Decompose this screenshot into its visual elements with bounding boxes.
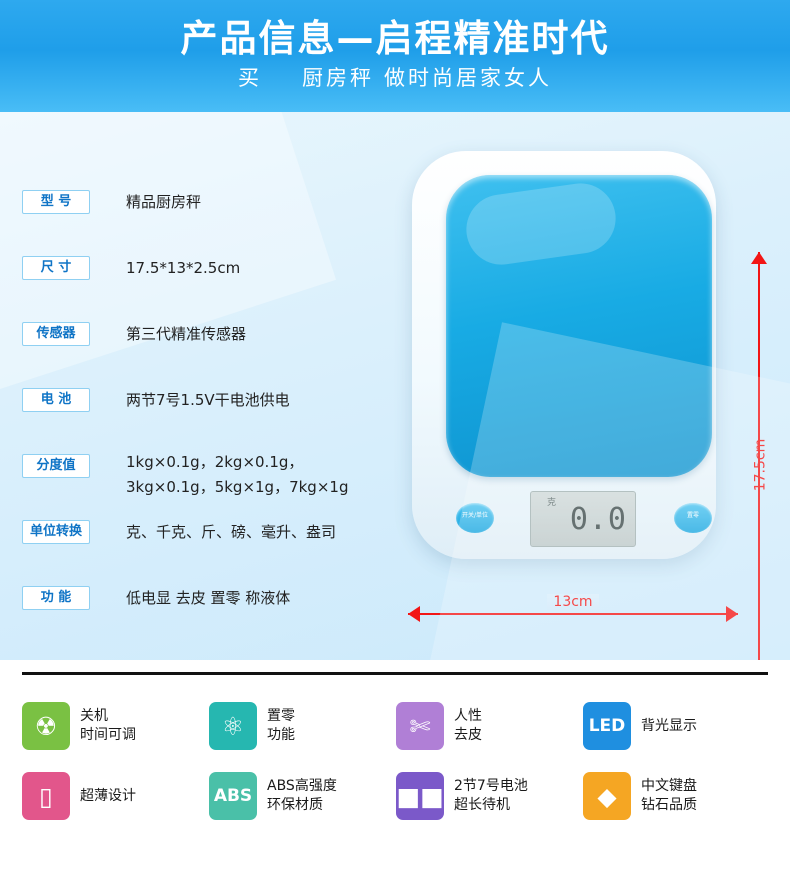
feature-item: ✄ 人性 去皮 xyxy=(396,702,583,750)
spec-value: 两节7号1.5V干电池供电 xyxy=(126,389,290,411)
atom-icon: ⚛ xyxy=(209,702,257,750)
page-subtitle: 买厨房秤做时尚居家女人 xyxy=(0,62,790,92)
feature-label: 人性 去皮 xyxy=(454,707,482,745)
lcd-weight-value: 0.0 xyxy=(570,502,627,537)
spec-label: 尺 寸 xyxy=(22,256,90,280)
lcd-display: 克 0.0 xyxy=(530,491,636,547)
power-unit-button[interactable]: 开关/单位 xyxy=(456,503,494,533)
feature-section: ☢ 关机 时间可调 ⚛ 置零 功能 ✄ 人性 去皮 xyxy=(0,660,790,875)
spec-row: 分度值 1kg×0.1g，2kg×0.1g， 3kg×0.1g，5kg×1g，7… xyxy=(22,454,402,506)
arrow-up-icon xyxy=(751,252,767,264)
spec-list: 型 号 精品厨房秤 尺 寸 17.5*13*2.5cm 传感器 第三代精准传感器… xyxy=(22,190,402,652)
spec-label: 功 能 xyxy=(22,586,90,610)
height-dimension: 17.5cm xyxy=(748,252,770,660)
spec-row: 型 号 精品厨房秤 xyxy=(22,190,402,242)
abs-material-icon: ABS xyxy=(209,772,257,820)
width-dimension-text: 13cm xyxy=(547,594,598,610)
spec-label: 单位转换 xyxy=(22,520,90,544)
spec-row: 传感器 第三代精准传感器 xyxy=(22,322,402,374)
section-divider xyxy=(22,672,768,675)
spec-label: 传感器 xyxy=(22,322,90,346)
feature-label: 置零 功能 xyxy=(267,707,295,745)
feature-label: 关机 时间可调 xyxy=(80,707,136,745)
spec-row: 单位转换 克、千克、斤、磅、毫升、盎司 xyxy=(22,520,402,572)
zero-button[interactable]: 置零 xyxy=(674,503,712,533)
spec-value: 克、千克、斤、磅、毫升、盎司 xyxy=(126,521,336,543)
feature-item: ☢ 关机 时间可调 xyxy=(22,702,209,750)
feature-label: 中文键盘 钻石品质 xyxy=(641,777,697,815)
diamond-icon: ◆ xyxy=(583,772,631,820)
led-label: LED xyxy=(589,718,626,735)
feature-item: ■■ 2节7号电池 超长待机 xyxy=(396,772,583,820)
battery-glyph: ■■ xyxy=(396,784,443,809)
spec-value: 第三代精准传感器 xyxy=(126,323,246,345)
spec-value: 1kg×0.1g，2kg×0.1g， 3kg×0.1g，5kg×1g，7kg×1… xyxy=(126,450,348,500)
spec-row: 电 池 两节7号1.5V干电池供电 xyxy=(22,388,402,440)
width-dimension: 13cm xyxy=(408,602,738,626)
diamond-glyph: ◆ xyxy=(597,784,616,809)
page-header: 产品信息—启程精准时代 买厨房秤做时尚居家女人 xyxy=(0,0,790,112)
spec-value: 17.5*13*2.5cm xyxy=(126,257,240,279)
feature-item: LED 背光显示 xyxy=(583,702,770,750)
spec-label: 型 号 xyxy=(22,190,90,214)
spec-label: 电 池 xyxy=(22,388,90,412)
abs-label: ABS xyxy=(214,788,252,805)
spec-row: 尺 寸 17.5*13*2.5cm xyxy=(22,256,402,308)
feature-label: 2节7号电池 超长待机 xyxy=(454,777,528,815)
arrow-right-icon xyxy=(726,606,738,622)
feature-label: 背光显示 xyxy=(641,717,697,736)
page-title: 产品信息—启程精准时代 xyxy=(0,8,790,62)
radiation-glyph: ☢ xyxy=(35,714,57,739)
battery-icon: ■■ xyxy=(396,772,444,820)
radiation-icon: ☢ xyxy=(22,702,70,750)
zero-button-label: 置零 xyxy=(674,512,712,519)
spec-label: 分度值 xyxy=(22,454,90,478)
power-unit-button-label: 开关/单位 xyxy=(456,512,494,519)
led-screen-icon: LED xyxy=(583,702,631,750)
scissors-glyph: ✄ xyxy=(410,714,431,739)
feature-item: ◆ 中文键盘 钻石品质 xyxy=(583,772,770,820)
lcd-unit-label: 克 xyxy=(547,495,556,508)
subtitle-part-2: 厨房秤 xyxy=(302,66,374,90)
slim-scale-glyph: ▯ xyxy=(39,784,53,809)
feature-item: ▯ 超薄设计 xyxy=(22,772,209,820)
feature-grid: ☢ 关机 时间可调 ⚛ 置零 功能 ✄ 人性 去皮 xyxy=(22,702,772,842)
product-image: 克 0.0 开关/单位 置零 xyxy=(398,142,736,572)
feature-label: 超薄设计 xyxy=(80,787,136,806)
dimension-line-horizontal xyxy=(408,613,738,615)
product-info-page: 产品信息—启程精准时代 买厨房秤做时尚居家女人 型 号 精品厨房秤 尺 寸 17… xyxy=(0,0,790,875)
feature-row: ▯ 超薄设计 ABS ABS高强度 环保材质 ■■ 2节7号电池 超长待机 xyxy=(22,772,772,820)
spec-value: 精品厨房秤 xyxy=(126,191,201,213)
dimension-line-vertical xyxy=(758,252,760,660)
slim-scale-icon: ▯ xyxy=(22,772,70,820)
width-dimension-label: 13cm xyxy=(408,594,738,610)
scale-body: 克 0.0 开关/单位 置零 xyxy=(412,151,716,559)
scissors-icon: ✄ xyxy=(396,702,444,750)
atom-glyph: ⚛ xyxy=(222,714,244,739)
scale-weighing-plate xyxy=(446,175,712,477)
feature-item: ⚛ 置零 功能 xyxy=(209,702,396,750)
feature-item: ABS ABS高强度 环保材质 xyxy=(209,772,396,820)
height-dimension-label: 17.5cm xyxy=(752,439,768,492)
feature-row: ☢ 关机 时间可调 ⚛ 置零 功能 ✄ 人性 去皮 xyxy=(22,702,772,750)
subtitle-part-3: 做时尚居家女人 xyxy=(384,66,552,90)
spec-panel: 型 号 精品厨房秤 尺 寸 17.5*13*2.5cm 传感器 第三代精准传感器… xyxy=(0,112,790,660)
feature-label: ABS高强度 环保材质 xyxy=(267,777,337,815)
subtitle-part-1: 买 xyxy=(238,66,262,90)
spec-row: 功 能 低电显 去皮 置零 称液体 xyxy=(22,586,402,638)
spec-value: 低电显 去皮 置零 称液体 xyxy=(126,587,290,609)
